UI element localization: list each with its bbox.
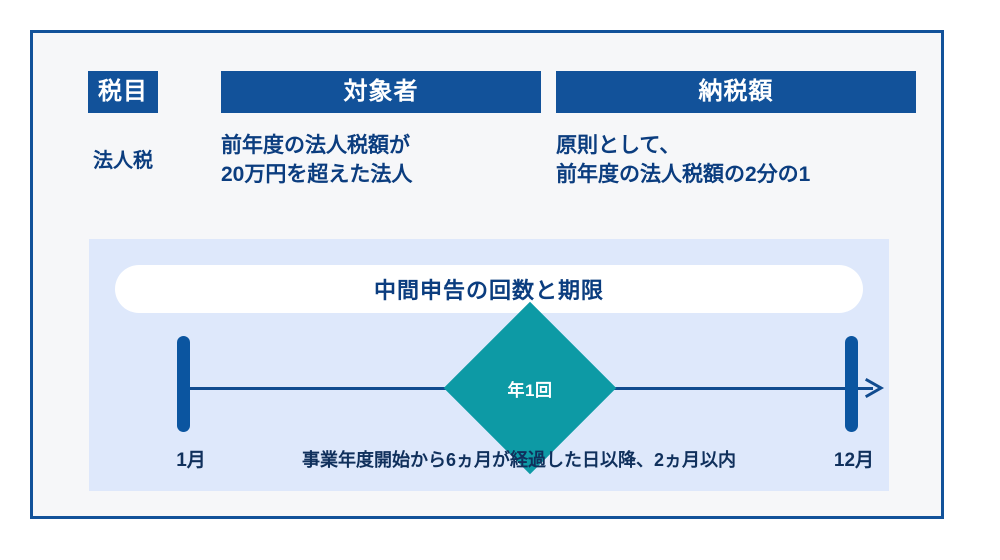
timeline-end-marker (845, 336, 858, 432)
table-header-amount: 納税額 (556, 71, 916, 113)
table-header-tax-type: 税目 (88, 71, 158, 113)
cell-target: 前年度の法人税額が 20万円を超えた法人 (221, 131, 551, 190)
timeline-panel-title: 中間申告の回数と期限 (115, 265, 863, 313)
cell-tax-type: 法人税 (88, 147, 158, 175)
table-header-amount-label: 納税額 (699, 80, 774, 104)
table-header-target: 対象者 (221, 71, 541, 113)
table-body-row: 法人税 前年度の法人税額が 20万円を超えた法人 原則として、 前年度の法人税額… (88, 131, 916, 201)
timeline-panel-title-label: 中間申告の回数と期限 (374, 273, 604, 305)
timeline-panel: 中間申告の回数と期限 年1回 1月 事業年度開始から6ヵ月が経過した日以降、2ヵ… (89, 239, 889, 491)
timeline-start-label: 1月 (161, 451, 221, 470)
infographic-card: 税目 対象者 納税額 法人税 前年度の法人税額が 20万円を超えた法人 原則とし… (30, 30, 944, 519)
timeline-caption: 事業年度開始から6ヵ月が経過した日以降、2ヵ月以内 (239, 451, 799, 469)
cell-amount: 原則として、 前年度の法人税額の2分の1 (556, 131, 926, 190)
table-header-target-label: 対象者 (344, 80, 419, 104)
timeline-graphic: 年1回 1月 事業年度開始から6ヵ月が経過した日以降、2ヵ月以内 12月 (89, 327, 889, 491)
timeline-start-marker (177, 336, 190, 432)
table-header-tax-type-label: 税目 (98, 80, 148, 104)
timeline-captions: 1月 事業年度開始から6ヵ月が経過した日以降、2ヵ月以内 12月 (89, 451, 889, 483)
timeline-milestone-label: 年1回 (469, 327, 591, 449)
timeline-end-label: 12月 (819, 451, 889, 470)
table-header-row: 税目 対象者 納税額 (88, 71, 916, 113)
arrow-right-icon (864, 376, 886, 400)
